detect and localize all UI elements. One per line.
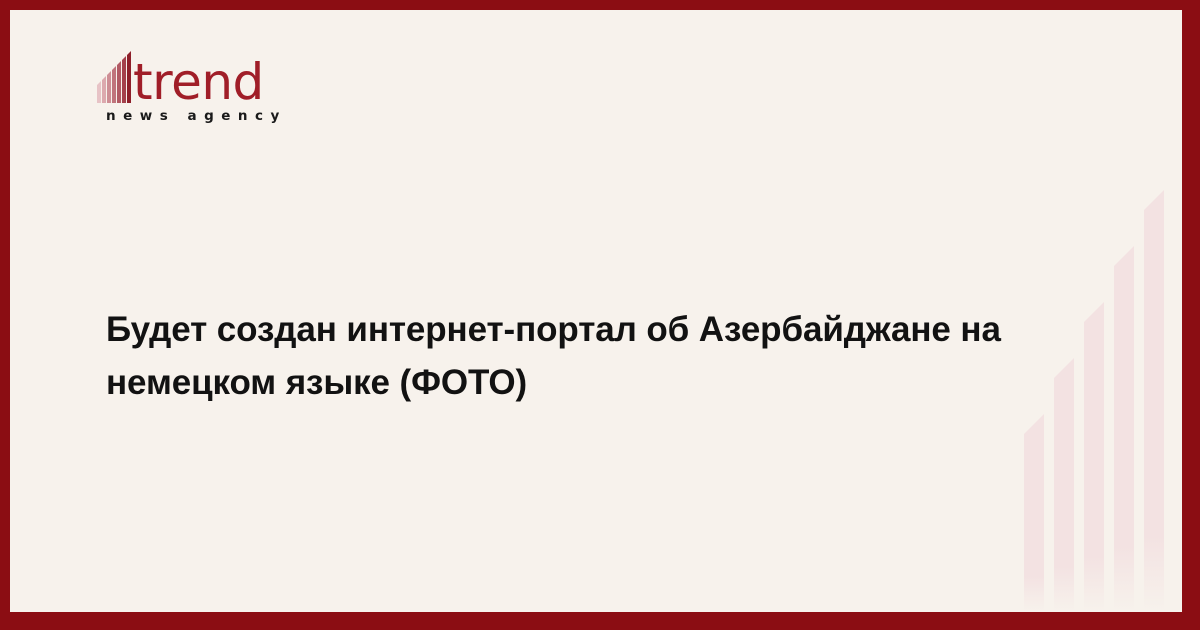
watermark-bar-1 (1024, 414, 1044, 612)
social-share-card: trend news agency Будет создан интернет-… (0, 0, 1200, 630)
card-inner-panel: trend news agency Будет создан интернет-… (10, 10, 1182, 612)
ascending-bars-logomark (96, 45, 132, 103)
trend-logo[interactable]: trend news agency (96, 45, 416, 124)
article-headline: Будет создан интернет-портал об Азербайд… (106, 303, 1106, 409)
watermark-bar-4 (1114, 246, 1134, 612)
logo-mark-row: trend (96, 45, 416, 103)
watermark-bar-5 (1144, 190, 1164, 612)
logo-wordmark: trend (133, 57, 264, 107)
